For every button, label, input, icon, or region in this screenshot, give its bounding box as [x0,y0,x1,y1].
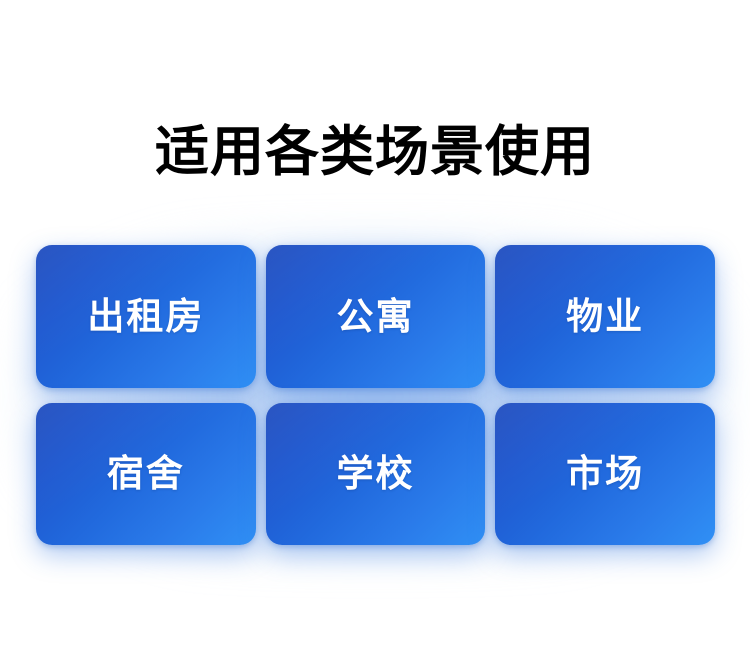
scene-card-rental-house[interactable]: 出租房 [36,245,256,388]
scene-card-label: 学校 [336,455,414,492]
scene-card-school[interactable]: 学校 [266,403,486,546]
page-title: 适用各类场景使用 [155,122,595,182]
scene-card-market[interactable]: 市场 [495,403,715,546]
scene-card-label: 物业 [566,298,644,335]
scene-card-label: 公寓 [336,298,414,335]
scene-card-grid: 出租房 公寓 物业 宿舍 学校 市场 [36,245,715,545]
scene-card-property[interactable]: 物业 [495,245,715,388]
scene-card-label: 出租房 [87,298,204,335]
scene-card-label: 市场 [566,455,644,492]
scene-card-label: 宿舍 [107,455,185,492]
scene-card-dormitory[interactable]: 宿舍 [36,403,256,546]
promo-page: 适用各类场景使用 出租房 公寓 物业 宿舍 学校 市场 [0,0,750,650]
page-title-container: 适用各类场景使用 [0,86,750,219]
scene-card-apartment[interactable]: 公寓 [266,245,486,388]
